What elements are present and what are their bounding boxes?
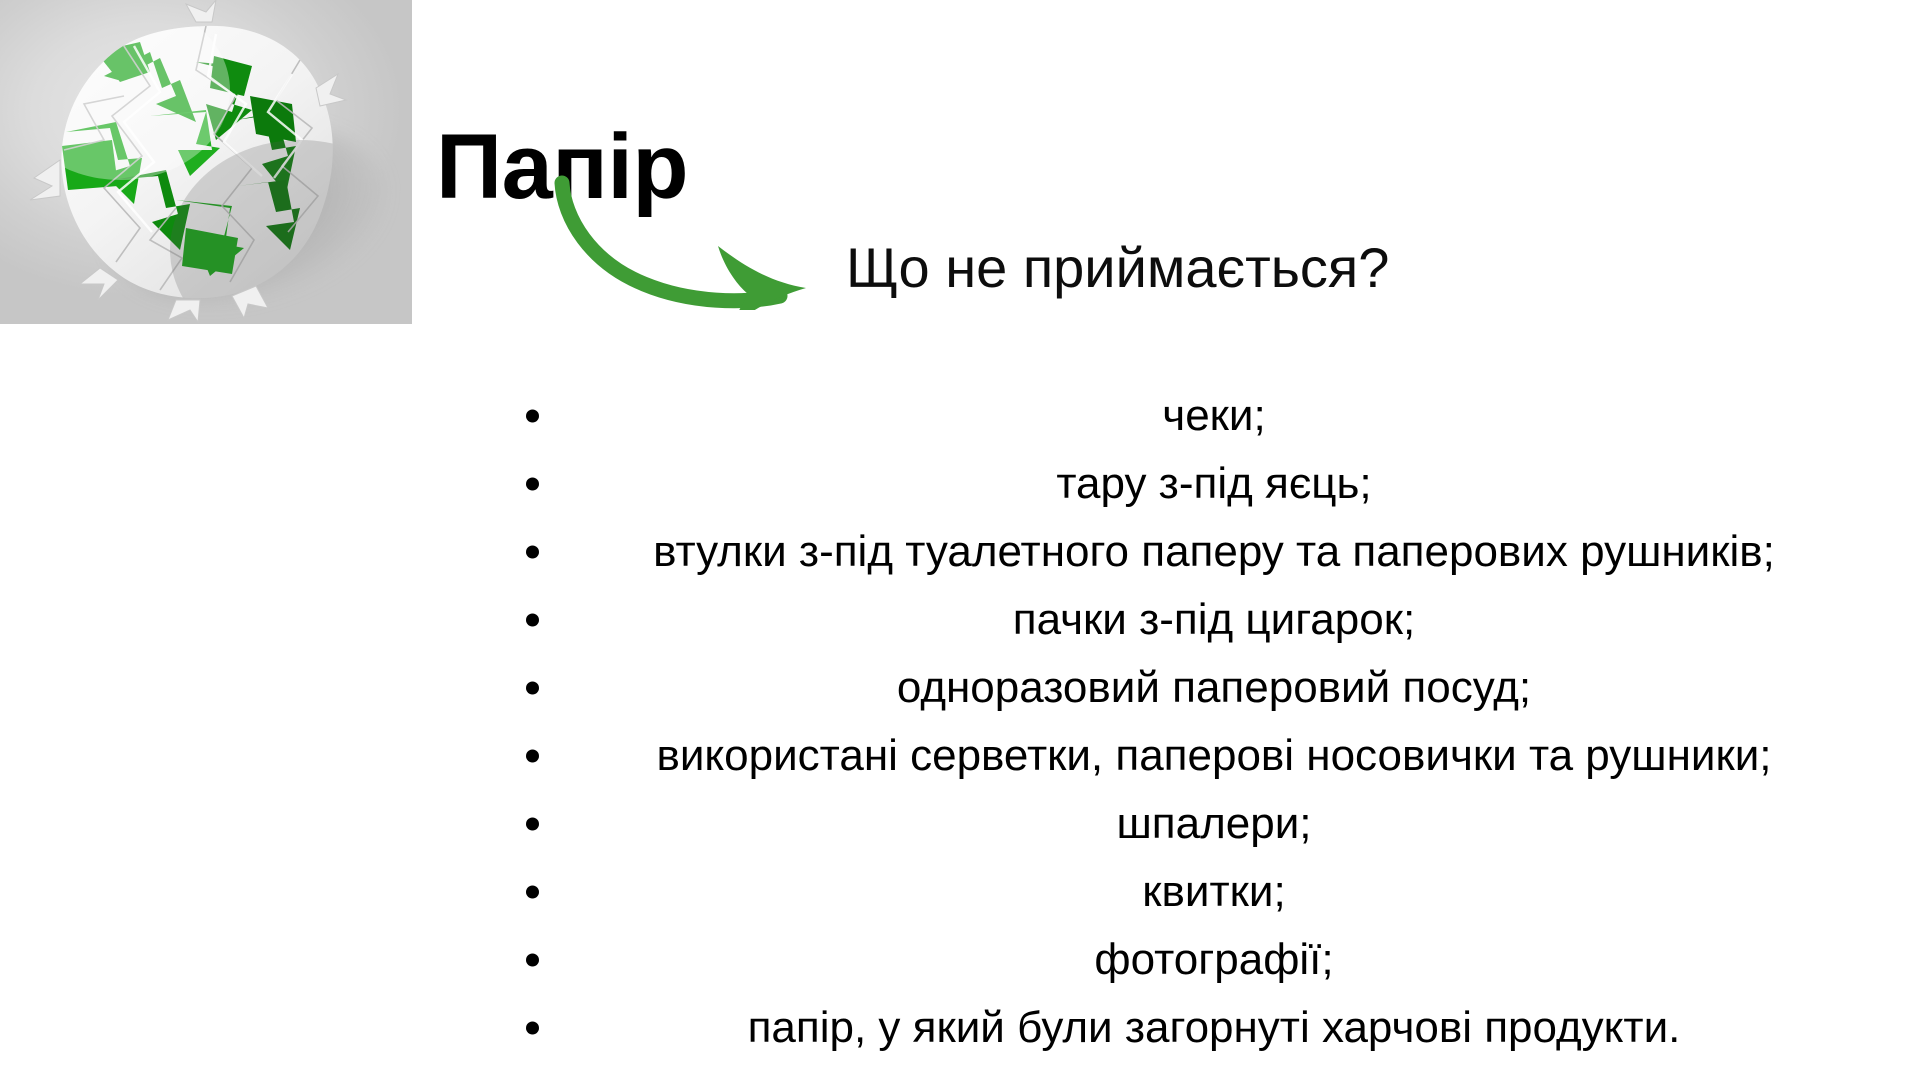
list-item: чеки; bbox=[518, 382, 1910, 450]
list-item: використані серветки, паперові носовички… bbox=[518, 722, 1910, 790]
bullet-marker-icon bbox=[526, 1022, 539, 1035]
recycling-symbol-icon bbox=[0, 0, 412, 324]
list-item: квитки; bbox=[518, 858, 1910, 926]
bullet-marker-icon bbox=[526, 818, 539, 831]
list-item: тару з-під яєць; bbox=[518, 450, 1910, 518]
bullet-marker-icon bbox=[526, 750, 539, 763]
list-item-label: пачки з-під цигарок; bbox=[1013, 598, 1415, 642]
list-item: одноразовий паперовий посуд; bbox=[518, 654, 1910, 722]
list-item: втулки з-під туалетного паперу та паперо… bbox=[518, 518, 1910, 586]
list-item-label: тару з-під яєць; bbox=[1056, 462, 1371, 506]
list-item-label: використані серветки, паперові носовички… bbox=[656, 734, 1771, 778]
subtitle: Що не приймається? bbox=[846, 238, 1389, 297]
list-item: пачки з-під цигарок; bbox=[518, 586, 1910, 654]
not-accepted-list: чеки; тару з-під яєць; втулки з-під туал… bbox=[518, 382, 1910, 1062]
bullet-marker-icon bbox=[526, 954, 539, 967]
bullet-marker-icon bbox=[526, 682, 539, 695]
list-item-label: шпалери; bbox=[1116, 802, 1311, 846]
list-item-label: втулки з-під туалетного паперу та паперо… bbox=[653, 530, 1775, 574]
crumpled-paper-recycling-image bbox=[0, 0, 412, 324]
bullet-marker-icon bbox=[526, 546, 539, 559]
list-item: шпалери; bbox=[518, 790, 1910, 858]
list-item: фотографії; bbox=[518, 926, 1910, 994]
bullet-marker-icon bbox=[526, 886, 539, 899]
page-title: Папір bbox=[436, 118, 688, 217]
list-item-label: фотографії; bbox=[1094, 938, 1333, 982]
list-item-label: папір, у який були загорнуті харчові про… bbox=[748, 1006, 1681, 1050]
bullet-marker-icon bbox=[526, 478, 539, 491]
bullet-marker-icon bbox=[526, 410, 539, 423]
list-item-label: одноразовий паперовий посуд; bbox=[897, 666, 1531, 710]
list-item-label: квитки; bbox=[1142, 870, 1285, 914]
list-item-label: чеки; bbox=[1162, 394, 1265, 438]
bullet-marker-icon bbox=[526, 614, 539, 627]
slide-canvas: Папір Що не приймається? чеки; тару з-пі… bbox=[0, 0, 1920, 1080]
list-item: папір, у який були загорнуті харчові про… bbox=[518, 994, 1910, 1062]
